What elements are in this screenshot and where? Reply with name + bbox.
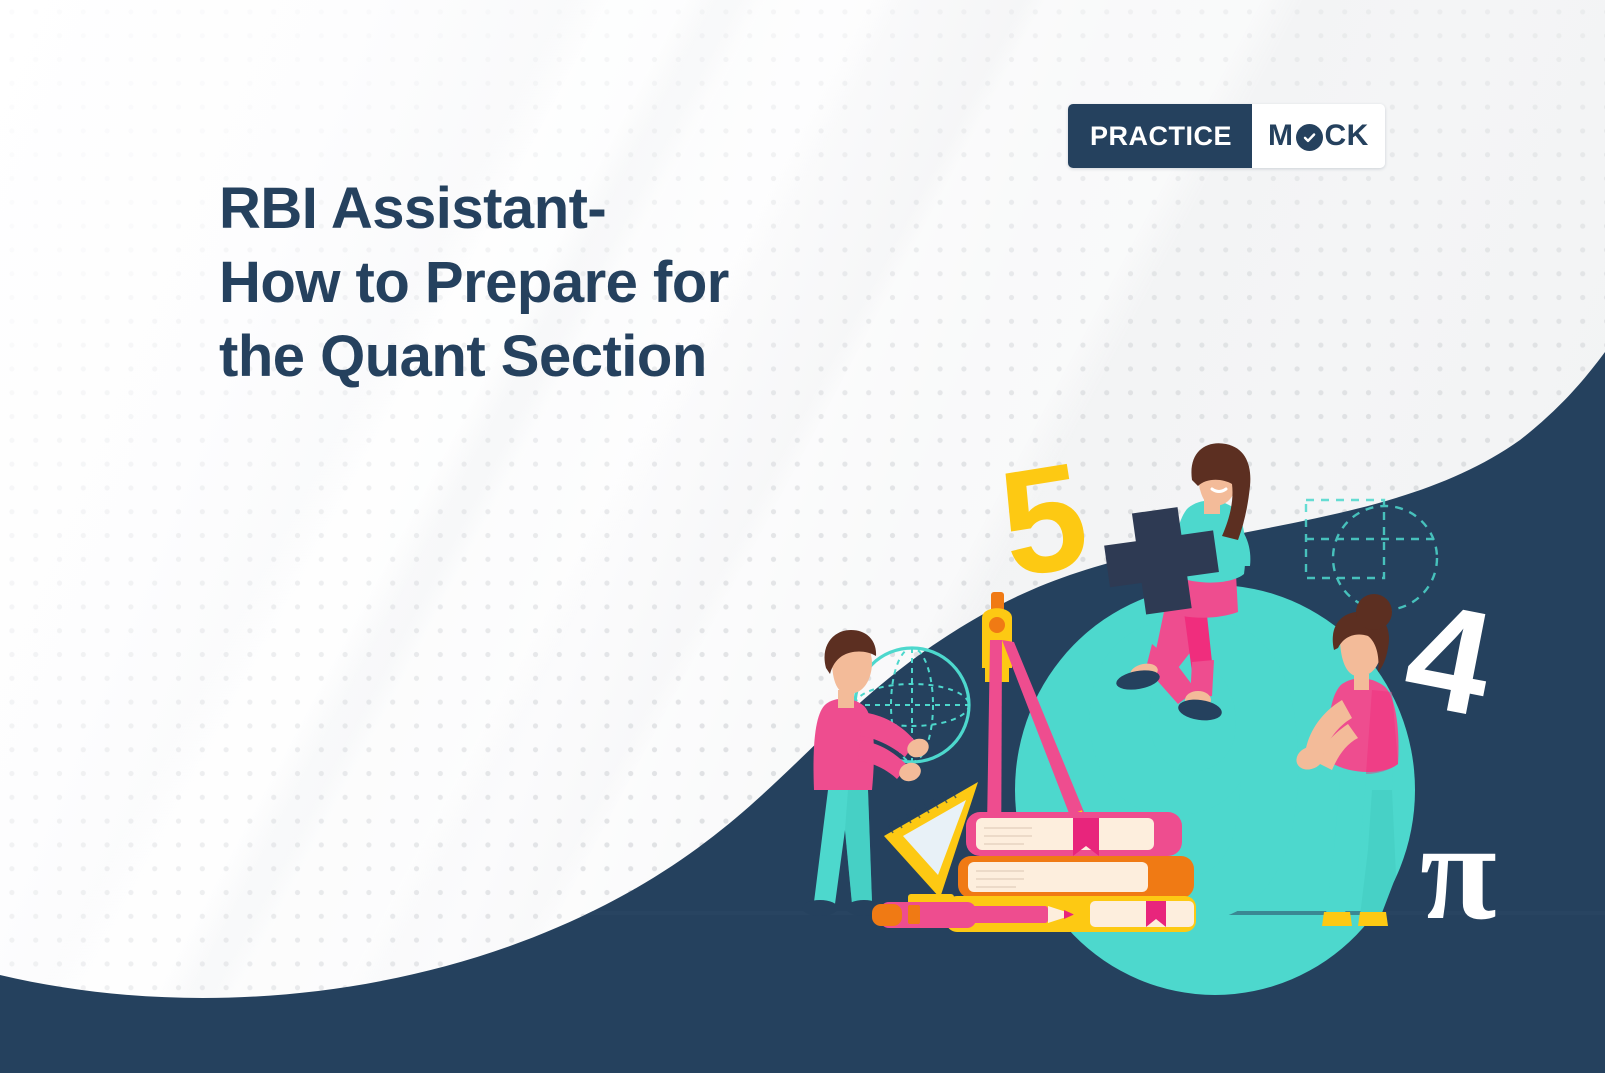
page-title: RBI Assistant- How to Prepare for the Qu… (219, 172, 859, 394)
pi-symbol: π (1420, 794, 1497, 949)
check-icon (1296, 124, 1323, 151)
promotional-banner: 5 9 4 π (0, 0, 1605, 1073)
logo-practice-text: PRACTICE (1068, 104, 1252, 168)
logo-letter-m: M (1268, 119, 1294, 153)
pencil (908, 905, 1074, 924)
logo-mock-text: M CK (1252, 104, 1385, 168)
logo-letters-ck: CK (1325, 119, 1369, 153)
brand-logo[interactable]: PRACTICE M CK (1068, 104, 1385, 168)
